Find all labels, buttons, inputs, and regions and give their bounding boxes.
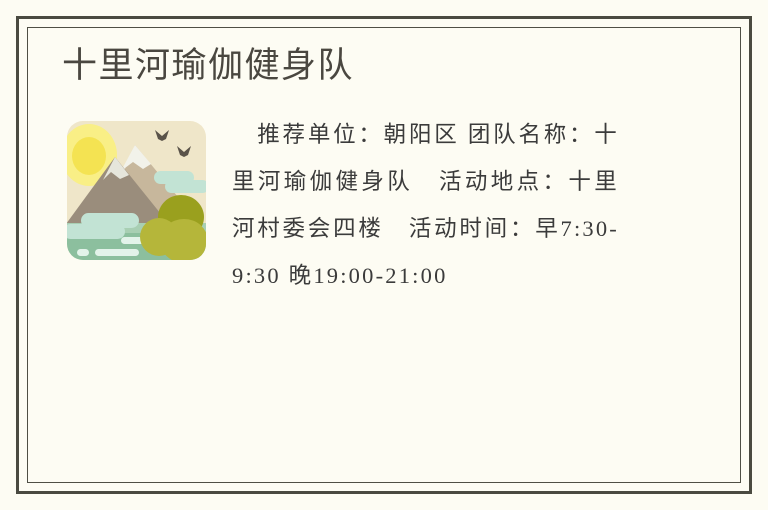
page-content: 十里河瑜伽健身队: [27, 27, 741, 483]
article-page: 十里河瑜伽健身队: [0, 0, 768, 510]
landscape-placeholder-image-icon: [59, 113, 214, 268]
article-body: 推荐单位：朝阳区 团队名称：十里河瑜伽健身队 活动地点：十里河村委会四楼 活动时…: [59, 111, 619, 299]
article-text: 推荐单位：朝阳区 团队名称：十里河瑜伽健身队 活动地点：十里河村委会四楼 活动时…: [232, 122, 619, 288]
page-title: 十里河瑜伽健身队: [62, 44, 717, 88]
